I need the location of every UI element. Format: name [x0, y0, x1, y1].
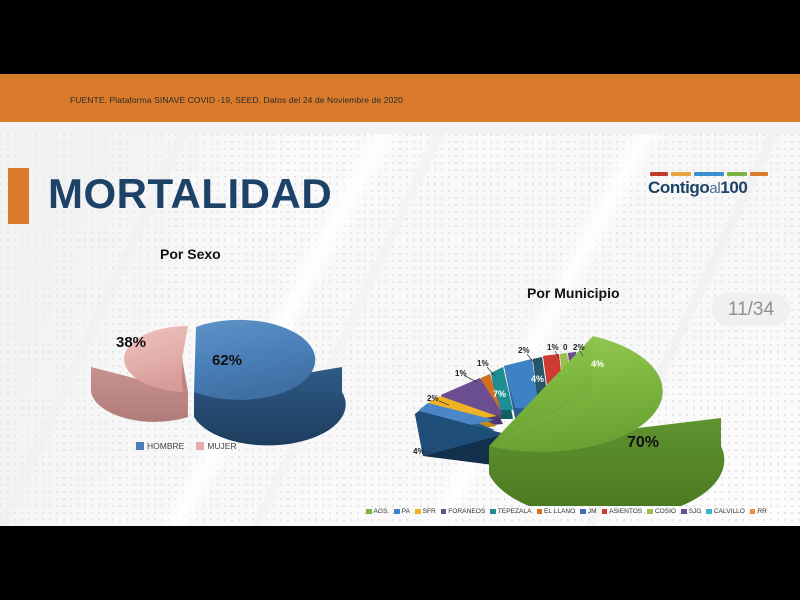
legend-municipio-item: JM	[580, 508, 596, 515]
logo-al-text: al	[709, 180, 720, 197]
legend-municipio-swatch-icon	[415, 509, 421, 515]
legend-municipio-swatch-icon	[441, 509, 447, 515]
pie-chart-municipio: 4%2%1%1%7%4%2%1%02%4%70%	[405, 306, 735, 506]
legend-municipio-swatch-icon	[394, 509, 400, 515]
legend-municipio-swatch-icon	[706, 509, 712, 515]
legend-municipio-swatch-icon	[580, 509, 586, 515]
logo-dash-4	[727, 172, 747, 176]
legend-municipio-swatch-icon	[750, 509, 756, 515]
legend-sexo-swatch-icon	[196, 442, 204, 450]
legend-municipio-label: JM	[588, 508, 597, 515]
pie-chart-sexo: 38%62%	[70, 274, 350, 459]
pie-chart-municipio-svg	[405, 306, 735, 506]
legend-municipio-item: ASIENTOS	[602, 508, 643, 515]
legend-sexo-label: MUJER	[207, 441, 236, 451]
legend-municipio-label: RR	[757, 508, 767, 515]
logo-dash-5	[750, 172, 768, 176]
legend-municipio-label: COSIO	[655, 508, 676, 515]
legend-municipio-swatch-icon	[681, 509, 687, 515]
legend-municipio-item: TEPEZALA	[490, 508, 531, 515]
brand-logo: Contigoal100	[648, 172, 772, 196]
legend-municipio-swatch-icon	[602, 509, 608, 515]
legend-municipio-item: PA	[394, 508, 410, 515]
legend-municipio-label: PA	[402, 508, 410, 515]
legend-municipio-label: CALVILLO	[714, 508, 745, 515]
legend-municipio-item: SJG	[681, 508, 701, 515]
slide-canvas: MORTALIDAD Contigoal100 11/34 Por Sexo	[0, 134, 800, 526]
legend-municipio-label: SJG	[689, 508, 702, 515]
title-accent-bar	[8, 168, 29, 224]
legend-municipio-item: CALVILLO	[706, 508, 745, 515]
pie-slice-hombre	[194, 320, 346, 446]
legend-sexo: HOMBREMUJER	[136, 441, 249, 451]
slide-gutter	[0, 122, 800, 134]
page-title: MORTALIDAD	[48, 170, 332, 218]
logo-dash-2	[671, 172, 691, 176]
legend-sexo-item: HOMBRE	[136, 441, 184, 451]
legend-sexo-label: HOMBRE	[147, 441, 184, 451]
pie-slice-mujer	[91, 326, 188, 422]
logo-dash-1	[650, 172, 668, 176]
letterbox-top	[0, 0, 800, 74]
logo-dash-3	[694, 172, 724, 176]
legend-sexo-item: MUJER	[196, 441, 236, 451]
logo-number-text: 100	[720, 178, 747, 197]
legend-municipio-item: EL LLANO	[537, 508, 576, 515]
chart-title-municipio: Por Municipio	[527, 285, 620, 301]
logo-brand-text: Contigo	[648, 178, 709, 197]
letterbox-bottom	[0, 526, 800, 600]
legend-municipio-label: ASIENTOS	[609, 508, 642, 515]
legend-municipio-swatch-icon	[647, 509, 653, 515]
source-text: FUENTE. Plataforma SINAVE COVID -19, SEE…	[70, 95, 403, 105]
slide-viewer: FUENTE. Plataforma SINAVE COVID -19, SEE…	[0, 0, 800, 600]
legend-municipio: AGS.PASFRFORANEOSTEPEZALAEL LLANOJMASIEN…	[366, 508, 772, 515]
legend-municipio-item: AGS.	[366, 508, 389, 515]
legend-municipio-swatch-icon	[366, 509, 372, 515]
legend-sexo-swatch-icon	[136, 442, 144, 450]
legend-municipio-item: FORANEOS	[441, 508, 486, 515]
legend-municipio-item: COSIO	[647, 508, 676, 515]
legend-municipio-label: EL LLANO	[544, 508, 575, 515]
pie-chart-sexo-svg	[70, 274, 350, 459]
legend-municipio-label: SFR	[423, 508, 436, 515]
legend-municipio-label: TEPEZALA	[498, 508, 532, 515]
legend-municipio-swatch-icon	[490, 509, 496, 515]
legend-municipio-label: FORANEOS	[448, 508, 485, 515]
chart-title-sexo: Por Sexo	[160, 246, 221, 262]
logo-wordmark: Contigoal100	[648, 179, 772, 196]
legend-municipio-swatch-icon	[537, 509, 543, 515]
logo-dashes	[648, 172, 772, 176]
legend-municipio-item: SFR	[415, 508, 436, 515]
legend-municipio-item: RR	[750, 508, 767, 515]
legend-municipio-label: AGS.	[374, 508, 390, 515]
